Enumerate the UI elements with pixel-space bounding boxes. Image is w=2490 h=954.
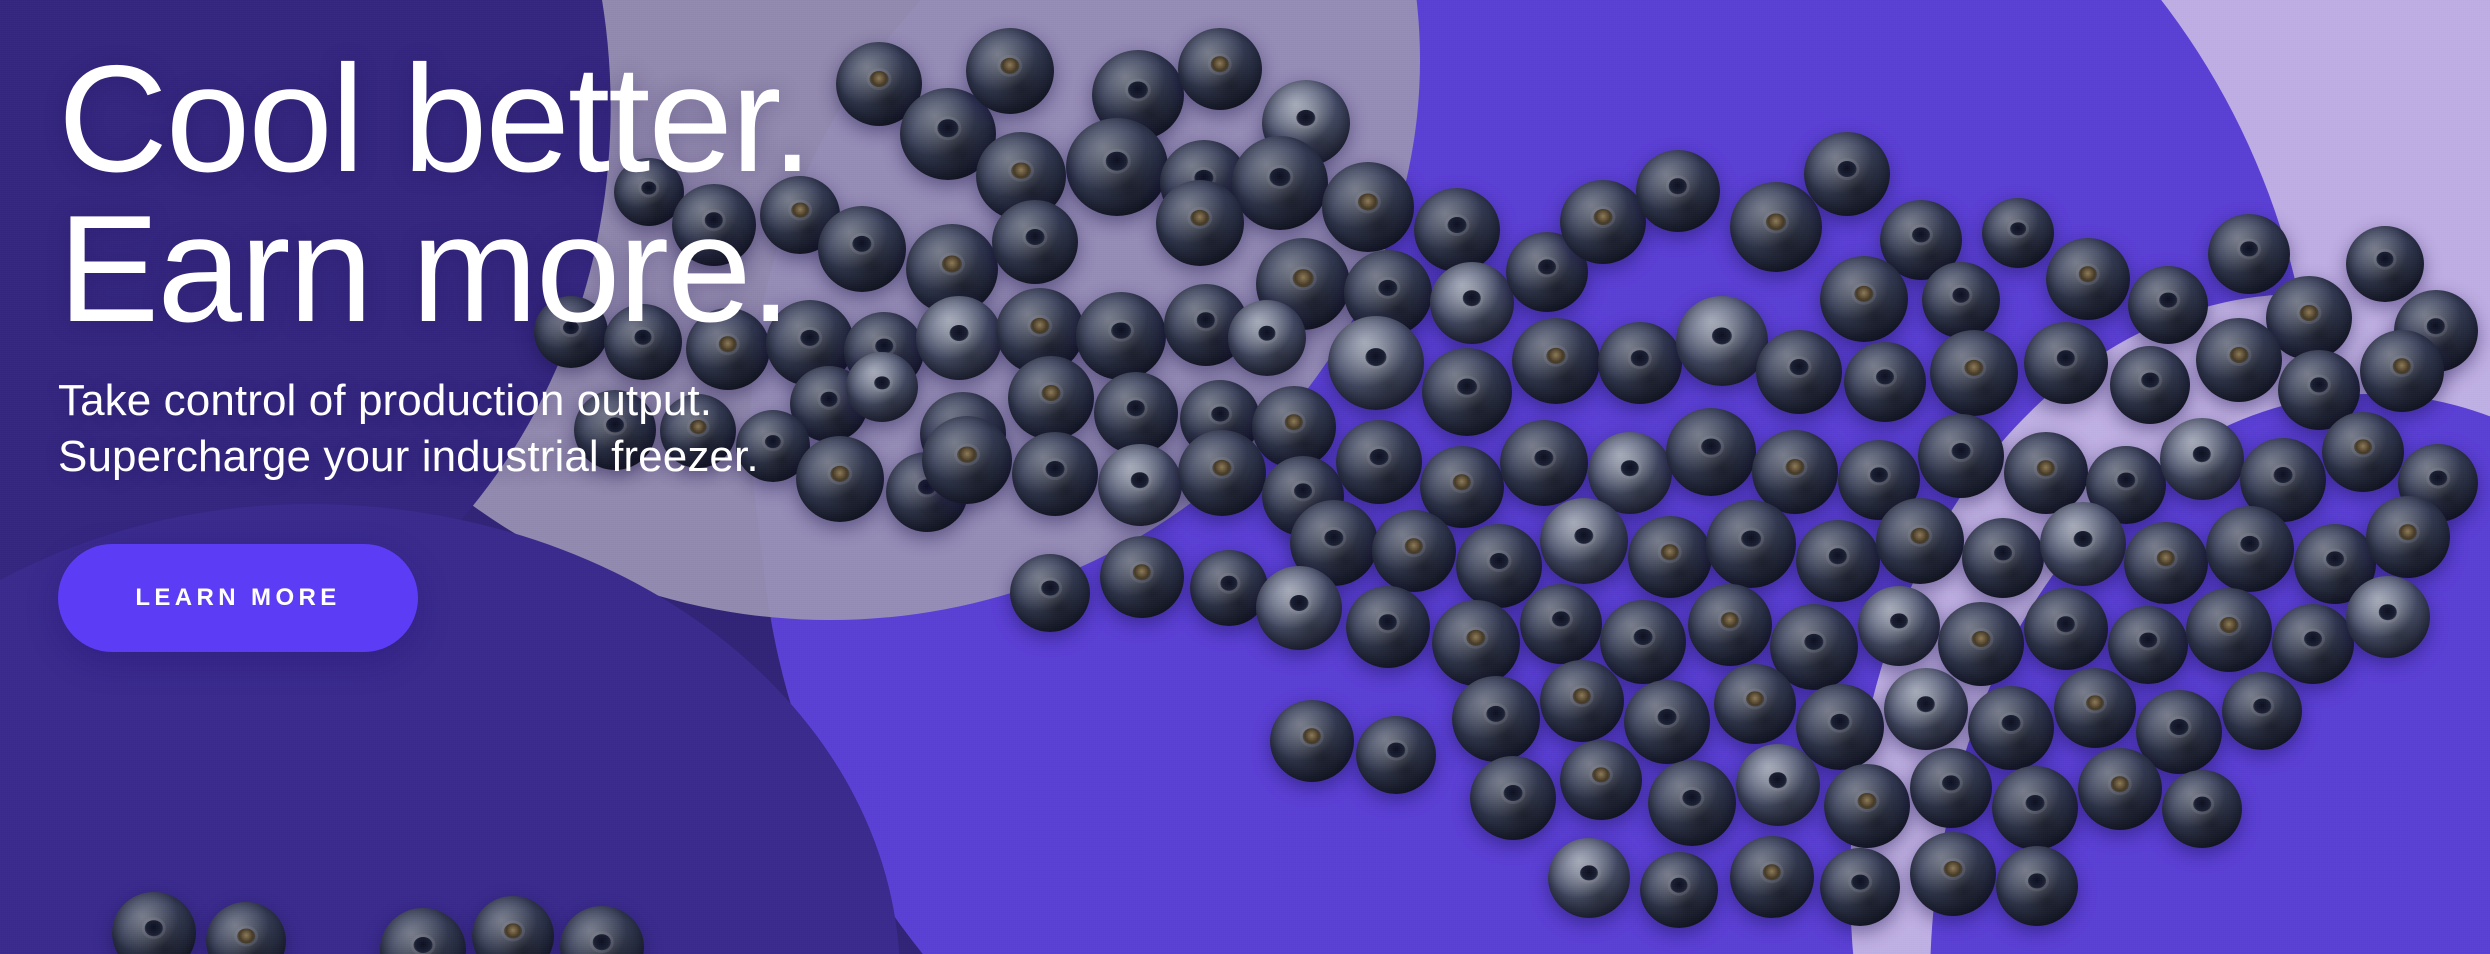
learn-more-button[interactable]: LEARN MORE bbox=[58, 544, 418, 652]
headline-line-1: Cool better. bbox=[58, 44, 1478, 194]
hero-content: Cool better. Earn more. Take control of … bbox=[58, 0, 1478, 954]
subtitle-line-1: Take control of production output. bbox=[58, 373, 1478, 429]
subtitle-line-2: Supercharge your industrial freezer. bbox=[58, 429, 1478, 485]
page-title: Cool better. Earn more. bbox=[58, 0, 1478, 345]
headline-line-2: Earn more. bbox=[58, 194, 1478, 344]
hero-banner: Cool better. Earn more. Take control of … bbox=[0, 0, 2490, 954]
hero-subtitle: Take control of production output. Super… bbox=[58, 373, 1478, 486]
